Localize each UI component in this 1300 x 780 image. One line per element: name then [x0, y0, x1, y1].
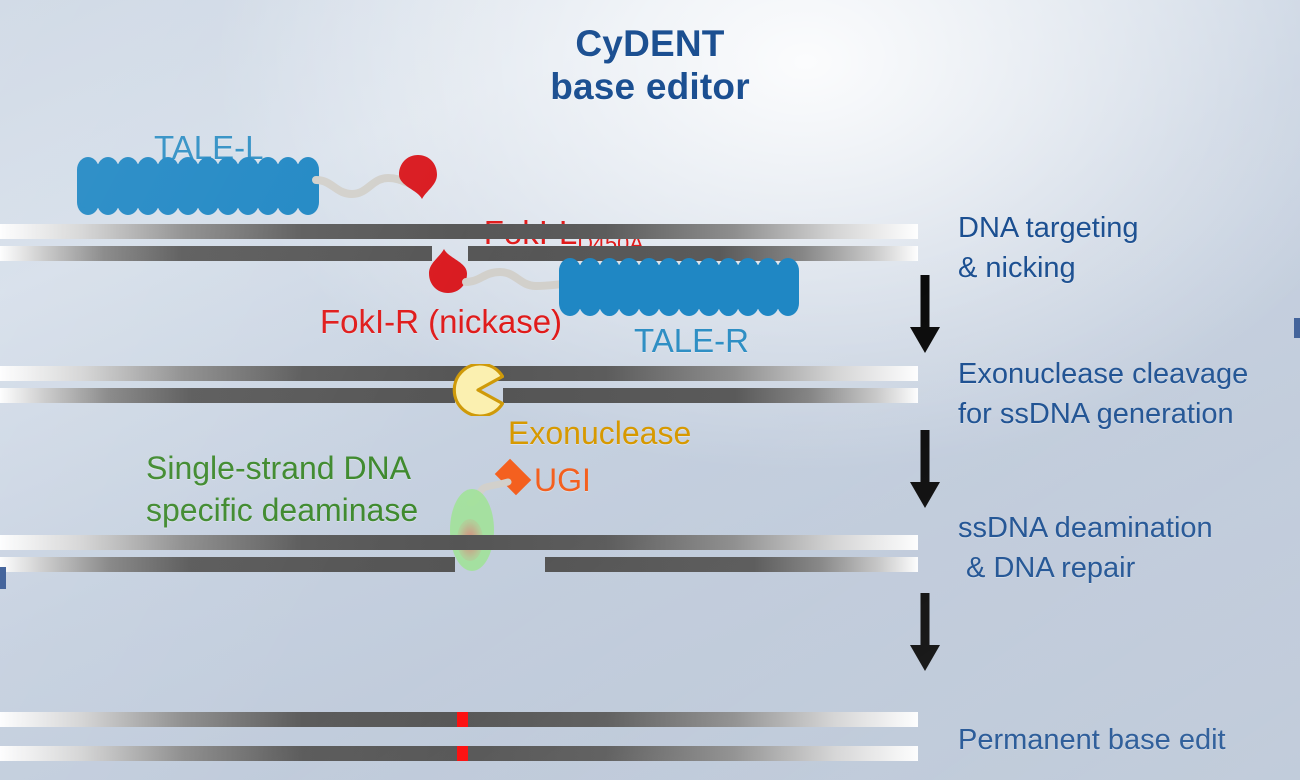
fok-left-domain	[398, 154, 438, 200]
tale-right-block	[560, 258, 798, 316]
tale-left-core	[80, 164, 316, 208]
step-label-4-line1: Permanent base edit	[958, 720, 1226, 760]
tale-right-core	[562, 265, 796, 309]
exonuclease-label: Exonuclease	[508, 415, 691, 452]
tale-right-label: TALE-R	[634, 322, 749, 360]
figure-canvas: CyDENT base editor TALE-L FokI-LD450A	[0, 0, 1300, 780]
dna-row3-bottom-strand-left	[0, 557, 455, 572]
dna-row1-top-strand	[0, 224, 918, 239]
figure-title-line1: CyDENT	[0, 22, 1300, 65]
figure-title-line2: base editor	[0, 65, 1300, 108]
flow-arrow-2-icon	[906, 430, 944, 508]
step-label-3-line2: & DNA repair	[958, 548, 1135, 588]
dna-row1-bottom-strand-left	[0, 246, 432, 261]
step-label-2-line2: for ssDNA generation	[958, 394, 1234, 434]
flow-arrow-3-icon	[906, 593, 944, 671]
fok-right-domain	[428, 248, 468, 294]
deaminase-label-line2: specific deaminase	[146, 492, 418, 529]
linker-fok-right-to-tale-right	[466, 266, 568, 300]
step-label-1-line2: & nicking	[958, 248, 1076, 288]
base-edit-mark-bottom	[457, 746, 468, 761]
ugi-label: UGI	[534, 462, 591, 499]
left-edge-artifact	[0, 567, 6, 589]
step-label-2-line1: Exonuclease cleavage	[958, 354, 1248, 394]
exonuclease-pacman-icon	[452, 364, 504, 416]
right-edge-artifact	[1294, 318, 1300, 338]
dna-row3-bottom-strand-right	[545, 557, 918, 572]
step-label-3-line1: ssDNA deamination	[958, 508, 1213, 548]
dna-row2-bottom-strand-right	[503, 388, 918, 403]
flow-arrow-1-icon	[906, 275, 944, 353]
dna-row2-bottom-strand-left	[0, 388, 455, 403]
step-label-1-line1: DNA targeting	[958, 208, 1139, 248]
tale-left-block	[78, 157, 318, 215]
dna-row3-top-strand	[0, 535, 918, 550]
deaminase-label-line1: Single-strand DNA	[146, 450, 411, 487]
base-edit-mark-top	[457, 712, 468, 727]
fok-right-label: FokI-R (nickase)	[320, 303, 562, 341]
